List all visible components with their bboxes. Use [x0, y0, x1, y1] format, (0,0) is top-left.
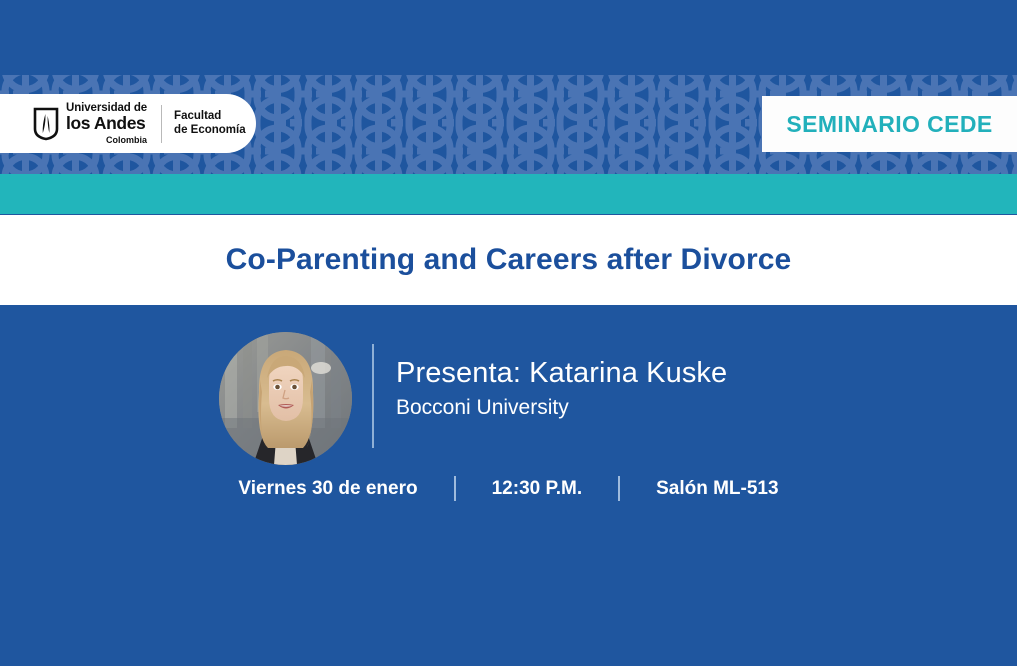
uniandes-shield-icon	[33, 107, 59, 141]
teal-accent-band	[0, 174, 1017, 214]
seminar-poster: Universidad de los Andes Colombia Facult…	[0, 0, 1017, 666]
speaker-divider	[372, 344, 374, 448]
event-time: 12:30 P.M.	[492, 478, 582, 500]
avatar	[219, 332, 352, 465]
logo-line-2: los Andes	[66, 115, 147, 133]
seminario-cede-badge: SEMINARIO CEDE	[762, 96, 1017, 152]
badge-label: SEMINARIO CEDE	[786, 111, 992, 138]
detail-separator-2	[618, 476, 620, 501]
logo-divider	[161, 105, 162, 143]
logo-line-3: Colombia	[66, 136, 147, 145]
event-details: Viernes 30 de enero 12:30 P.M. Salón ML-…	[0, 476, 1017, 501]
speaker-section: Presenta: Katarina Kuske Bocconi Univers…	[0, 332, 1017, 448]
faculty-line-2: de Economía	[174, 124, 246, 138]
university-logo: Universidad de los Andes Colombia Facult…	[0, 94, 256, 153]
presenter-name: Presenta: Katarina Kuske	[396, 358, 727, 390]
event-room: Salón ML-513	[656, 478, 778, 500]
presenter-affiliation: Bocconi University	[396, 396, 727, 419]
title-band: Co-Parenting and Careers after Divorce	[0, 215, 1017, 305]
page-title: Co-Parenting and Careers after Divorce	[226, 243, 792, 277]
event-date: Viernes 30 de enero	[238, 478, 417, 500]
faculty-line-1: Facultad	[174, 110, 246, 124]
detail-separator-1	[454, 476, 456, 501]
